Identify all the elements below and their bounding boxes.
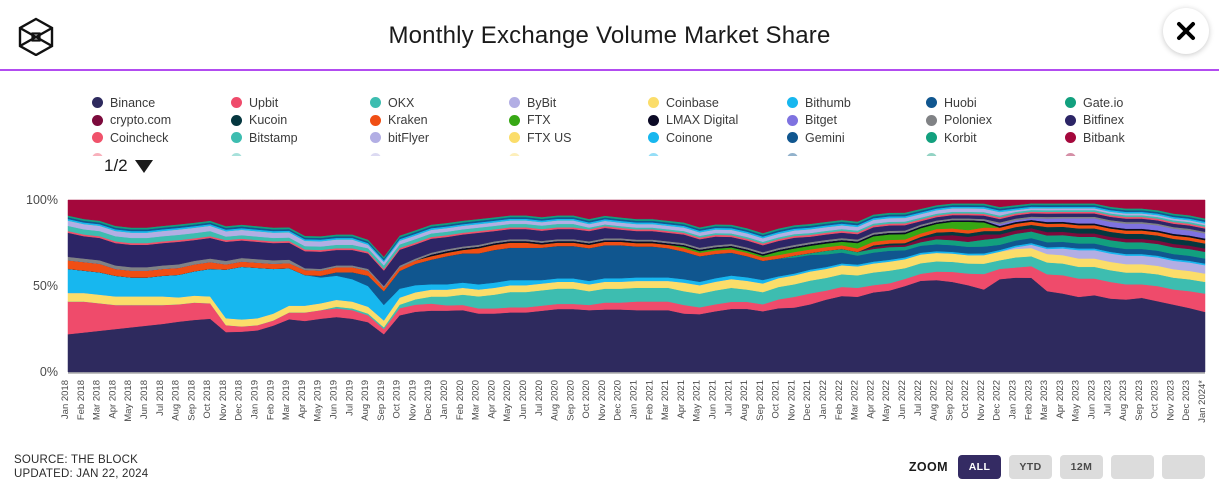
legend-item-bybit[interactable]: ByBit xyxy=(509,94,648,112)
legend-item-label: Gate.io xyxy=(1083,97,1123,110)
x-axis-tick-label: Aug 2022 xyxy=(929,380,940,421)
zoom-button-empty-4[interactable] xyxy=(1162,455,1205,479)
legend-item-partial xyxy=(1065,150,1202,156)
legend-swatch-icon xyxy=(926,115,937,126)
legend-item-partial xyxy=(370,150,509,156)
source-line: SOURCE: THE BLOCK xyxy=(14,453,148,467)
x-axis-tick-label: Jun 2018 xyxy=(139,380,150,419)
x-axis-tick-label: May 2023 xyxy=(1071,380,1082,422)
x-axis-tick-label: Mar 2023 xyxy=(1039,380,1050,420)
y-axis-tick-label: 100% xyxy=(26,193,58,207)
x-axis-tick-label: Jun 2022 xyxy=(897,380,908,419)
x-axis-tick-label: Jul 2022 xyxy=(913,380,924,416)
legend-item-partial xyxy=(648,150,787,156)
x-axis-tick-label: Mar 2022 xyxy=(850,380,861,420)
chart-header: Monthly Exchange Volume Market Share xyxy=(0,0,1219,71)
legend-swatch-icon xyxy=(1065,153,1076,156)
x-axis-tick-label: Mar 2018 xyxy=(92,380,103,420)
legend-item-label: Kucoin xyxy=(249,114,287,127)
legend-cutoff-row xyxy=(92,150,1202,156)
x-axis-tick-label: Jan 2022 xyxy=(818,380,829,419)
x-axis-tick-label: Nov 2022 xyxy=(976,380,987,421)
x-axis-tick-label: Jul 2021 xyxy=(723,380,734,416)
page-title: Monthly Exchange Volume Market Share xyxy=(0,22,1219,50)
legend-item-label: Bitget xyxy=(805,114,837,127)
legend-item-kucoin[interactable]: Kucoin xyxy=(231,112,370,130)
legend-swatch-icon xyxy=(648,153,659,156)
legend-swatch-icon xyxy=(648,115,659,126)
x-axis-tick-label: Jun 2020 xyxy=(518,380,529,419)
legend-swatch-icon xyxy=(787,132,798,143)
x-axis-tick-label: May 2019 xyxy=(313,380,324,422)
legend-swatch-icon xyxy=(92,132,103,143)
legend-item-label: bitFlyer xyxy=(388,132,429,145)
x-axis-tick-label: Oct 2023 xyxy=(1150,380,1161,419)
x-axis-tick-label: Nov 2019 xyxy=(407,380,418,421)
x-axis-tick-label: Jan 2018 xyxy=(60,380,71,419)
stacked-area-chart[interactable]: 0%50%100%Jan 2018Feb 2018Mar 2018Apr 201… xyxy=(0,186,1219,441)
x-axis-tick-label: Oct 2018 xyxy=(202,380,213,419)
legend-item-label: OKX xyxy=(388,97,414,110)
x-axis-tick-label: Jan 2023 xyxy=(1008,380,1019,419)
legend-item-label: Huobi xyxy=(944,97,977,110)
x-axis-tick-label: Aug 2023 xyxy=(1118,380,1129,421)
zoom-label: ZOOM xyxy=(909,460,948,474)
legend-item-label: Coinone xyxy=(666,132,713,145)
legend-swatch-icon xyxy=(231,97,242,108)
legend-item-bitstamp[interactable]: Bitstamp xyxy=(231,129,370,147)
legend-swatch-icon xyxy=(926,153,937,156)
legend-item-label: Bitfinex xyxy=(1083,114,1124,127)
x-axis-tick-label: Feb 2021 xyxy=(644,380,655,420)
zoom-button-all[interactable]: ALL xyxy=(958,455,1001,479)
legend-item-label: crypto.com xyxy=(110,114,171,127)
legend-item-coinbase[interactable]: Coinbase xyxy=(648,94,787,112)
legend-item-label: LMAX Digital xyxy=(666,114,738,127)
x-axis-tick-label: Jul 2019 xyxy=(344,380,355,416)
x-axis-tick-label: Jan 2021 xyxy=(629,380,640,419)
legend-item-binance[interactable]: Binance xyxy=(92,94,231,112)
x-axis-tick-label: Apr 2021 xyxy=(676,380,687,419)
legend-swatch-icon xyxy=(370,153,381,156)
x-axis-tick-label: Jul 2023 xyxy=(1102,380,1113,416)
updated-line: UPDATED: JAN 22, 2024 xyxy=(14,467,148,481)
y-axis-tick-label: 0% xyxy=(40,365,58,379)
x-axis-tick-label: Oct 2021 xyxy=(771,380,782,419)
x-axis-tick-label: Sep 2023 xyxy=(1134,380,1145,421)
legend-swatch-icon xyxy=(787,97,798,108)
legend-item-partial xyxy=(926,150,1065,156)
x-axis-tick-label: Jul 2018 xyxy=(155,380,166,416)
legend-swatch-icon xyxy=(370,115,381,126)
legend-pager[interactable]: 1/2 xyxy=(104,156,153,176)
chart-legend: Binancecrypto.comCoincheckUpbitKucoinBit… xyxy=(92,94,1202,152)
legend-swatch-icon xyxy=(509,97,520,108)
legend-item-label: Coinbase xyxy=(666,97,719,110)
x-axis-tick-label: Apr 2019 xyxy=(297,380,308,419)
legend-item-label: Binance xyxy=(110,97,155,110)
x-axis-tick-label: Dec 2021 xyxy=(802,380,813,421)
x-axis-tick-label: Mar 2021 xyxy=(660,380,671,420)
x-axis-tick-label: Jan 2019 xyxy=(250,380,261,419)
legend-swatch-icon xyxy=(509,132,520,143)
legend-item-label: ByBit xyxy=(527,97,556,110)
legend-item-label: Gemini xyxy=(805,132,845,145)
chevron-down-icon xyxy=(135,160,153,173)
legend-swatch-icon xyxy=(370,97,381,108)
x-axis-tick-label: Feb 2018 xyxy=(76,380,87,420)
legend-item-huobi[interactable]: Huobi xyxy=(926,94,1065,112)
legend-swatch-icon xyxy=(926,132,937,143)
legend-item-label: FTX US xyxy=(527,132,571,145)
x-axis-tick-label: Feb 2019 xyxy=(265,380,276,420)
legend-item-label: Bitstamp xyxy=(249,132,298,145)
y-axis-tick-label: 50% xyxy=(33,279,58,293)
x-axis-tick-label: Oct 2019 xyxy=(392,380,403,419)
x-axis-tick-label: May 2020 xyxy=(502,380,513,422)
legend-item-label: Poloniex xyxy=(944,114,992,127)
x-axis-tick-label: Apr 2018 xyxy=(107,380,118,419)
x-axis-tick-label: Mar 2020 xyxy=(471,380,482,420)
x-axis-tick-label: Dec 2019 xyxy=(423,380,434,421)
x-axis-tick-label: Sep 2020 xyxy=(565,380,576,421)
legend-swatch-icon xyxy=(509,115,520,126)
x-axis-tick-label: Jan 2024* xyxy=(1197,380,1208,423)
legend-item-ftx[interactable]: FTX xyxy=(509,112,648,130)
legend-item-label: Bithumb xyxy=(805,97,851,110)
x-axis-tick-label: Mar 2019 xyxy=(281,380,292,420)
x-axis-tick-label: Nov 2023 xyxy=(1165,380,1176,421)
x-axis-tick-label: Nov 2018 xyxy=(218,380,229,421)
x-axis-tick-label: Feb 2023 xyxy=(1023,380,1034,420)
x-axis-tick-label: May 2018 xyxy=(123,380,134,422)
x-axis-tick-label: Oct 2022 xyxy=(960,380,971,419)
legend-item-gate-io[interactable]: Gate.io xyxy=(1065,94,1202,112)
legend-item-label: FTX xyxy=(527,114,551,127)
legend-item-bitfinex[interactable]: Bitfinex xyxy=(1065,112,1202,130)
legend-item-korbit[interactable]: Korbit xyxy=(926,129,1065,147)
legend-swatch-icon xyxy=(92,153,103,156)
legend-swatch-icon xyxy=(92,97,103,108)
x-axis-tick-label: Apr 2020 xyxy=(486,380,497,419)
x-axis-tick-label: Dec 2023 xyxy=(1181,380,1192,421)
legend-item-partial xyxy=(231,150,370,156)
legend-item-bithumb[interactable]: Bithumb xyxy=(787,94,926,112)
legend-item-bitbank[interactable]: Bitbank xyxy=(1065,129,1202,147)
x-axis-tick-label: Nov 2020 xyxy=(597,380,608,421)
zoom-button-ytd[interactable]: YTD xyxy=(1009,455,1052,479)
x-axis-tick-label: Sep 2018 xyxy=(186,380,197,421)
x-axis-tick-label: Sep 2021 xyxy=(755,380,766,421)
legend-item-poloniex[interactable]: Poloniex xyxy=(926,112,1065,130)
x-axis-tick-label: Aug 2020 xyxy=(550,380,561,421)
x-axis-tick-label: Jan 2020 xyxy=(439,380,450,419)
legend-item-label: Upbit xyxy=(249,97,278,110)
legend-swatch-icon xyxy=(787,115,798,126)
legend-item-partial xyxy=(787,150,926,156)
legend-swatch-icon xyxy=(926,97,937,108)
x-axis-tick-label: May 2022 xyxy=(881,380,892,422)
x-axis-tick-label: Feb 2022 xyxy=(834,380,845,420)
x-axis-tick-label: Feb 2020 xyxy=(455,380,466,420)
legend-swatch-icon xyxy=(231,132,242,143)
legend-item-coincheck[interactable]: Coincheck xyxy=(92,129,231,147)
zoom-button-12m[interactable]: 12M xyxy=(1060,455,1103,479)
legend-swatch-icon xyxy=(92,115,103,126)
zoom-controls: ZOOM ALLYTD12M xyxy=(909,455,1205,479)
x-axis-tick-label: Sep 2022 xyxy=(944,380,955,421)
legend-swatch-icon xyxy=(231,115,242,126)
x-axis-tick-label: Aug 2018 xyxy=(171,380,182,421)
x-axis-tick-label: Jul 2020 xyxy=(534,380,545,416)
chart-source: SOURCE: THE BLOCK UPDATED: JAN 22, 2024 xyxy=(14,453,148,481)
legend-item-gemini[interactable]: Gemini xyxy=(787,129,926,147)
legend-swatch-icon xyxy=(1065,97,1076,108)
legend-swatch-icon xyxy=(509,153,520,156)
x-axis-tick-label: May 2021 xyxy=(692,380,703,422)
legend-swatch-icon xyxy=(1065,115,1076,126)
legend-item-partial xyxy=(509,150,648,156)
x-axis-tick-label: Apr 2023 xyxy=(1055,380,1066,419)
legend-swatch-icon xyxy=(231,153,242,156)
legend-item-label: Korbit xyxy=(944,132,977,145)
legend-item-kraken[interactable]: Kraken xyxy=(370,112,509,130)
legend-swatch-icon xyxy=(787,153,798,156)
legend-item-bitflyer[interactable]: bitFlyer xyxy=(370,129,509,147)
x-axis-tick-label: Dec 2020 xyxy=(613,380,624,421)
legend-item-label: Coincheck xyxy=(110,132,168,145)
legend-item-crypto-com[interactable]: crypto.com xyxy=(92,112,231,130)
legend-item-upbit[interactable]: Upbit xyxy=(231,94,370,112)
x-axis-tick-label: Dec 2018 xyxy=(234,380,245,421)
x-axis-tick-label: Nov 2021 xyxy=(786,380,797,421)
legend-item-ftx-us[interactable]: FTX US xyxy=(509,129,648,147)
x-axis-tick-label: Aug 2021 xyxy=(739,380,750,421)
legend-swatch-icon xyxy=(648,97,659,108)
x-axis-tick-label: Oct 2020 xyxy=(581,380,592,419)
legend-item-label: Kraken xyxy=(388,114,428,127)
x-axis-tick-label: Apr 2022 xyxy=(865,380,876,419)
legend-swatch-icon xyxy=(370,132,381,143)
legend-item-okx[interactable]: OKX xyxy=(370,94,509,112)
x-axis-tick-label: Dec 2022 xyxy=(992,380,1003,421)
legend-pager-label: 1/2 xyxy=(104,156,128,176)
x-axis-tick-label: Sep 2019 xyxy=(376,380,387,421)
x-axis-tick-label: Aug 2019 xyxy=(360,380,371,421)
legend-swatch-icon xyxy=(1065,132,1076,143)
legend-swatch-icon xyxy=(648,132,659,143)
zoom-button-empty-3[interactable] xyxy=(1111,455,1154,479)
x-axis-tick-label: Jun 2021 xyxy=(707,380,718,419)
x-axis-tick-label: Jun 2019 xyxy=(328,380,339,419)
legend-item-coinone[interactable]: Coinone xyxy=(648,129,787,147)
chart-area: 0%50%100%Jan 2018Feb 2018Mar 2018Apr 201… xyxy=(0,186,1219,441)
x-axis-tick-label: Jun 2023 xyxy=(1086,380,1097,419)
legend-item-label: Bitbank xyxy=(1083,132,1125,145)
legend-item-bitget[interactable]: Bitget xyxy=(787,112,926,130)
close-icon[interactable] xyxy=(1163,8,1209,54)
legend-item-lmax-digital[interactable]: LMAX Digital xyxy=(648,112,787,130)
